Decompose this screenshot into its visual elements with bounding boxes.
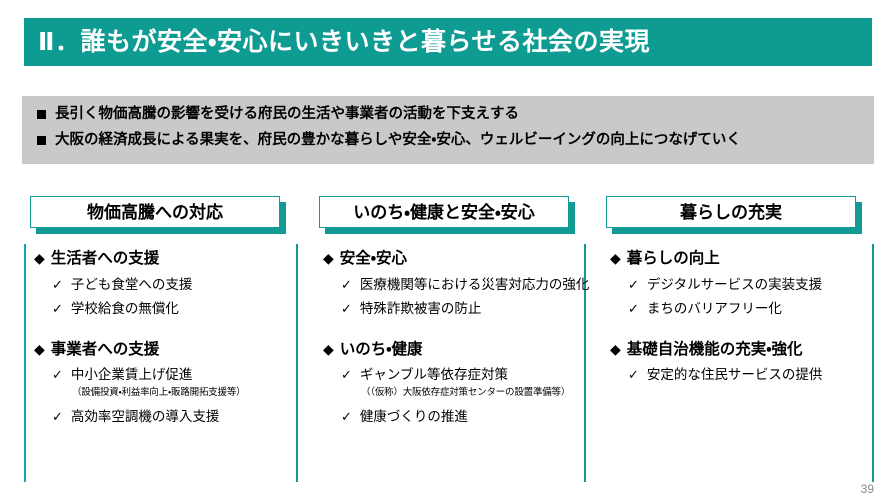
column-1-header: 物価高騰への対応 bbox=[30, 196, 280, 228]
slide-title-bar: Ⅱ．誰もが安全・安心にいきいきと暮らせる社会の実現 bbox=[24, 18, 872, 66]
check-bullet-icon: ✓ bbox=[341, 278, 352, 291]
list-item-text: 中小企業賃上げ促進 bbox=[71, 366, 193, 384]
list-item: ✓ 健康づくりの推進 bbox=[341, 408, 599, 426]
column-1-header-label: 物価高騰への対応 bbox=[87, 204, 223, 221]
list-item-text: 安定的な住民サービスの提供 bbox=[647, 366, 823, 384]
group-2-1-title: ◆ 安全・安心 bbox=[323, 250, 599, 269]
column-2-header-label: いのち・健康と安全・安心 bbox=[353, 204, 535, 221]
list-item-text: デジタルサービスの実装支援 bbox=[647, 276, 822, 294]
check-bullet-icon: ✓ bbox=[52, 302, 63, 315]
summary-bullet-1-text: 長引く物価高騰の影響を受ける府民の生活や事業者の活動を下支えする bbox=[55, 105, 519, 125]
diamond-bullet-icon: ◆ bbox=[34, 342, 45, 356]
group-3-1-title: ◆ 暮らしの向上 bbox=[610, 250, 886, 269]
list-item-note: （（仮称）大阪依存症対策センターの設置準備等） bbox=[361, 387, 599, 399]
check-bullet-icon: ✓ bbox=[52, 278, 63, 291]
column-price-response: 物価高騰への対応 ◆ 生活者への支援 ✓ 子ども食堂への支援 ✓ 学校給食の無償… bbox=[24, 196, 310, 228]
column-2-body: ◆ 安全・安心 ✓ 医療機関等における災害対応力の強化 ✓ 特殊詐欺被害の防止 … bbox=[323, 250, 599, 432]
column-3-header-plate: 暮らしの充実 bbox=[606, 196, 856, 228]
list-item-text: 健康づくりの推進 bbox=[360, 408, 468, 426]
column-living-enrichment: 暮らしの充実 ◆ 暮らしの向上 ✓ デジタルサービスの実装支援 ✓ まちのバリア… bbox=[600, 196, 886, 228]
list-item: ✓ 学校給食の無償化 bbox=[52, 300, 310, 318]
column-divider-left bbox=[24, 244, 26, 482]
check-bullet-icon: ✓ bbox=[628, 368, 639, 381]
list-item-note: （設備投資・利益率向上・販路開拓支援等） bbox=[72, 387, 310, 399]
list-item: ✓ 医療機関等における災害対応力の強化 bbox=[341, 276, 599, 294]
list-item: ✓ 特殊詐欺被害の防止 bbox=[341, 300, 599, 318]
column-3-header-label: 暮らしの充実 bbox=[680, 204, 782, 221]
list-item-text: 学校給食の無償化 bbox=[71, 300, 179, 318]
group-spacer bbox=[323, 325, 599, 341]
check-bullet-icon: ✓ bbox=[341, 302, 352, 315]
column-life-health-safety: いのち・健康と安全・安心 ◆ 安全・安心 ✓ 医療機関等における災害対応力の強化… bbox=[313, 196, 599, 228]
diamond-bullet-icon: ◆ bbox=[610, 251, 621, 265]
group-3-2-title-text: 基礎自治機能の充実・強化 bbox=[627, 341, 803, 360]
column-2-header: いのち・健康と安全・安心 bbox=[319, 196, 569, 228]
column-2-header-plate: いのち・健康と安全・安心 bbox=[319, 196, 569, 228]
summary-panel: 長引く物価高騰の影響を受ける府民の生活や事業者の活動を下支えする 大阪の経済成長… bbox=[22, 96, 874, 164]
diamond-bullet-icon: ◆ bbox=[323, 342, 334, 356]
list-item: ✓ 中小企業賃上げ促進 bbox=[52, 366, 310, 384]
column-3-header: 暮らしの充実 bbox=[606, 196, 856, 228]
diamond-bullet-icon: ◆ bbox=[610, 342, 621, 356]
square-bullet-icon bbox=[37, 110, 46, 119]
group-spacer bbox=[34, 325, 310, 341]
list-item: ✓ デジタルサービスの実装支援 bbox=[628, 276, 886, 294]
page-number: 39 bbox=[861, 482, 874, 496]
list-item: ✓ 高効率空調機の導入支援 bbox=[52, 408, 310, 426]
square-bullet-icon bbox=[37, 136, 46, 145]
group-3-1-title-text: 暮らしの向上 bbox=[627, 250, 720, 269]
group-1-2-title: ◆ 事業者への支援 bbox=[34, 341, 310, 360]
list-item-text: まちのバリアフリー化 bbox=[647, 300, 782, 318]
group-3-2: ◆ 基礎自治機能の充実・強化 ✓ 安定的な住民サービスの提供 bbox=[610, 341, 886, 384]
group-1-2-title-text: 事業者への支援 bbox=[51, 341, 160, 360]
group-3-1: ◆ 暮らしの向上 ✓ デジタルサービスの実装支援 ✓ まちのバリアフリー化 bbox=[610, 250, 886, 318]
list-item-text: 医療機関等における災害対応力の強化 bbox=[360, 276, 590, 294]
check-bullet-icon: ✓ bbox=[52, 368, 63, 381]
group-2-2: ◆ いのち・健康 ✓ ギャンブル等依存症対策 （（仮称）大阪依存症対策センターの… bbox=[323, 341, 599, 426]
summary-bullet-2-text: 大阪の経済成長による果実を、府民の豊かな暮らしや安全・安心、ウェルビーイングの向… bbox=[55, 131, 741, 151]
group-1-1-title: ◆ 生活者への支援 bbox=[34, 250, 310, 269]
list-item-text: 特殊詐欺被害の防止 bbox=[360, 300, 482, 318]
column-1-header-plate: 物価高騰への対応 bbox=[30, 196, 280, 228]
group-2-2-title: ◆ いのち・健康 bbox=[323, 341, 599, 360]
check-bullet-icon: ✓ bbox=[341, 368, 352, 381]
group-3-2-title: ◆ 基礎自治機能の充実・強化 bbox=[610, 341, 886, 360]
columns-region: 物価高騰への対応 ◆ 生活者への支援 ✓ 子ども食堂への支援 ✓ 学校給食の無償… bbox=[0, 196, 896, 486]
group-1-2: ◆ 事業者への支援 ✓ 中小企業賃上げ促進 （設備投資・利益率向上・販路開拓支援… bbox=[34, 341, 310, 426]
summary-bullet-2: 大阪の経済成長による果実を、府民の豊かな暮らしや安全・安心、ウェルビーイングの向… bbox=[32, 131, 864, 151]
group-2-1-title-text: 安全・安心 bbox=[340, 250, 407, 269]
page-title: Ⅱ．誰もが安全・安心にいきいきと暮らせる社会の実現 bbox=[38, 30, 650, 55]
check-bullet-icon: ✓ bbox=[52, 410, 63, 423]
group-1-1: ◆ 生活者への支援 ✓ 子ども食堂への支援 ✓ 学校給食の無償化 bbox=[34, 250, 310, 318]
list-item: ✓ ギャンブル等依存症対策 bbox=[341, 366, 599, 384]
list-item-text: ギャンブル等依存症対策 bbox=[360, 366, 508, 384]
check-bullet-icon: ✓ bbox=[341, 410, 352, 423]
group-2-2-title-text: いのち・健康 bbox=[340, 341, 423, 360]
list-item: ✓ 安定的な住民サービスの提供 bbox=[628, 366, 886, 384]
column-1-body: ◆ 生活者への支援 ✓ 子ども食堂への支援 ✓ 学校給食の無償化 ◆ 事業者への… bbox=[34, 250, 310, 432]
diamond-bullet-icon: ◆ bbox=[34, 251, 45, 265]
diamond-bullet-icon: ◆ bbox=[323, 251, 334, 265]
summary-bullet-1: 長引く物価高騰の影響を受ける府民の生活や事業者の活動を下支えする bbox=[32, 105, 864, 125]
group-1-1-title-text: 生活者への支援 bbox=[51, 250, 160, 269]
list-item-text: 子ども食堂への支援 bbox=[71, 276, 193, 294]
list-item: ✓ 子ども食堂への支援 bbox=[52, 276, 310, 294]
check-bullet-icon: ✓ bbox=[628, 278, 639, 291]
column-3-body: ◆ 暮らしの向上 ✓ デジタルサービスの実装支援 ✓ まちのバリアフリー化 ◆ … bbox=[610, 250, 886, 391]
list-item: ✓ まちのバリアフリー化 bbox=[628, 300, 886, 318]
check-bullet-icon: ✓ bbox=[628, 302, 639, 315]
list-item-text: 高効率空調機の導入支援 bbox=[71, 408, 220, 426]
group-2-1: ◆ 安全・安心 ✓ 医療機関等における災害対応力の強化 ✓ 特殊詐欺被害の防止 bbox=[323, 250, 599, 318]
group-spacer bbox=[610, 325, 886, 341]
